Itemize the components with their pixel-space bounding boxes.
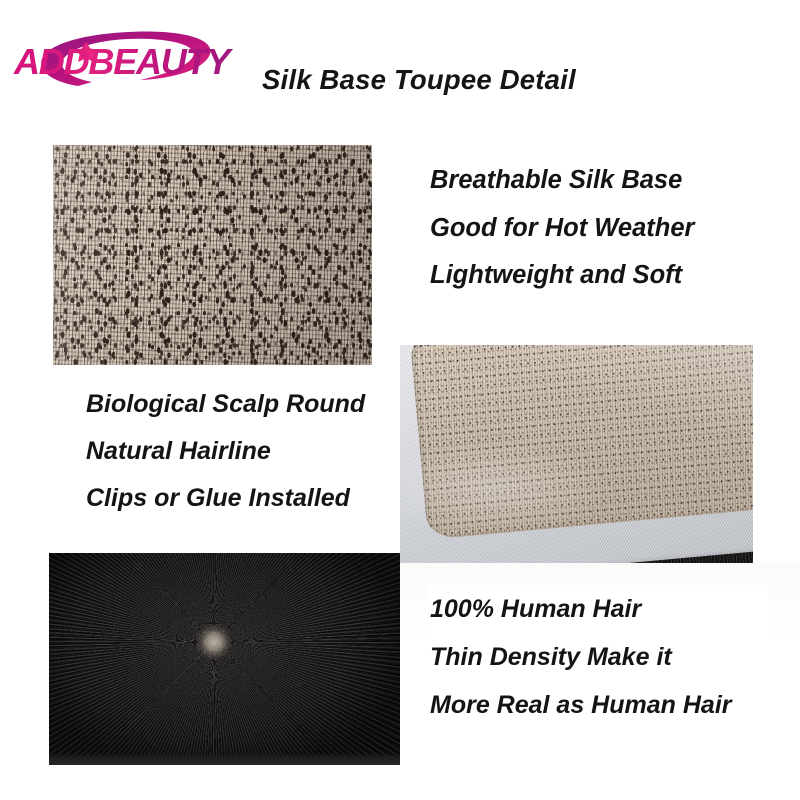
feature-line: Natural Hairline [86, 439, 395, 464]
feature-line: Thin Density Make it [430, 645, 768, 670]
crown-vignette-overlay [49, 553, 400, 765]
feature-line: Breathable Silk Base [430, 168, 760, 194]
page-title: Silk Base Toupee Detail [262, 64, 682, 96]
addbeauty-logo-icon: ADDBEAUTY [8, 22, 258, 102]
feature-text-silk-base: Breathable Silk Base Good for Hot Weathe… [430, 168, 760, 311]
feature-line: More Real as Human Hair [430, 693, 768, 718]
feature-text-human-hair: 100% Human Hair Thin Density Make it Mor… [430, 585, 768, 740]
feature-line: Biological Scalp Round [86, 392, 395, 417]
feature-line: Clips or Glue Installed [86, 486, 395, 511]
feature-line: 100% Human Hair [430, 597, 768, 622]
toupee-gloss-overlay [400, 345, 753, 563]
brand-logo: ADDBEAUTY [8, 22, 258, 102]
photo-silk-base-mesh [53, 145, 372, 365]
photo-toupee-base [400, 345, 753, 563]
logo-wordmark: ADDBEAUTY [13, 41, 233, 82]
infographic-page: ADDBEAUTY Silk Base Toupee Detail Breath… [0, 0, 800, 800]
feature-text-scalp: Biological Scalp Round Natural Hairline … [72, 378, 395, 533]
mesh-shading-overlay [53, 145, 372, 365]
photo-hair-crown [49, 553, 400, 765]
feature-line: Good for Hot Weather [430, 216, 760, 242]
crown-bottom-edge [49, 753, 400, 765]
feature-line: Lightweight and Soft [430, 263, 760, 289]
